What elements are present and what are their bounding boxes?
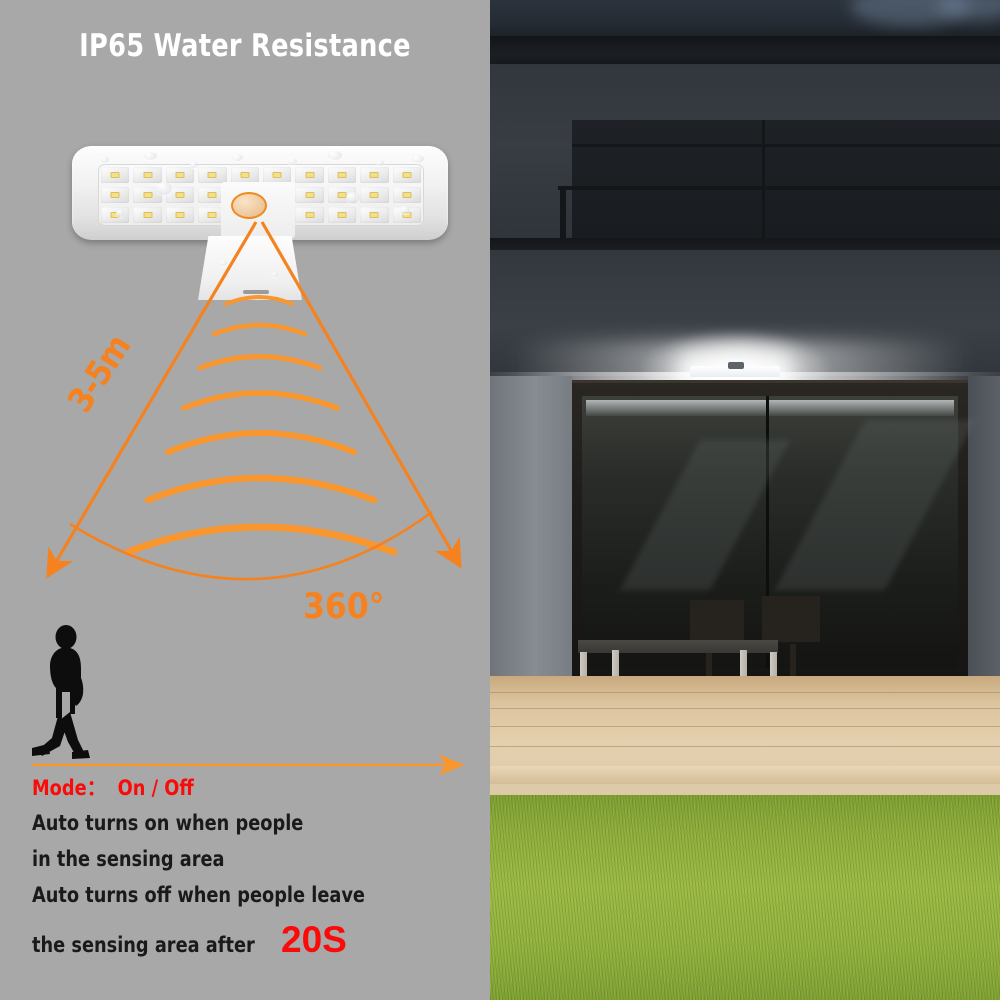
floodlight-bracket: [728, 362, 744, 369]
background-stool: [690, 600, 744, 644]
angle-label: 360°: [303, 587, 384, 627]
lawn-texture: [490, 795, 1000, 1000]
mode-timeout-prefix: the sensing area after: [32, 933, 255, 957]
deck-plank-line: [490, 746, 1000, 747]
mode-detail-line: Auto turns off when people leave: [32, 883, 436, 907]
mode-label: Mode：: [32, 776, 106, 800]
patio-table-top: [578, 640, 778, 653]
mode-description-block: Mode：On / Off Auto turns on when people …: [32, 772, 462, 961]
background-stool: [762, 596, 820, 642]
walking-person-icon: [26, 622, 98, 762]
balcony-railing: [572, 144, 1000, 147]
balcony-railing: [558, 186, 1000, 190]
deck-plank-line: [490, 692, 1000, 693]
night-scene-photo: [490, 0, 1000, 1000]
balcony-post: [560, 188, 566, 244]
deck-plank-line: [490, 726, 1000, 727]
wall-pillar-left: [490, 376, 572, 676]
cone-span-arc: [70, 512, 432, 579]
mode-value: On / Off: [118, 776, 194, 800]
cone-ray-right: [262, 222, 452, 552]
balcony-post: [762, 120, 765, 238]
sensor-wave-arcs: [128, 297, 394, 552]
mode-line: Mode：On / Off: [32, 772, 436, 802]
deck-plank-line: [490, 708, 1000, 709]
diagram-panel: IP65 Water Resistance: [0, 0, 490, 1000]
mode-detail-line: Auto turns on when people: [32, 811, 436, 835]
glass-top-reflection: [586, 400, 954, 416]
mode-timeout-line: the sensing area after 20S: [32, 919, 462, 961]
timeout-seconds-badge: 20S: [281, 919, 347, 961]
gravel-border: [968, 740, 1000, 802]
deck-step: [490, 766, 1000, 784]
mode-detail-line: in the sensing area: [32, 847, 436, 871]
infographic-page: IP65 Water Resistance: [0, 0, 1000, 1000]
upper-balcony: [572, 120, 1000, 238]
roof-edge: [490, 36, 1000, 66]
